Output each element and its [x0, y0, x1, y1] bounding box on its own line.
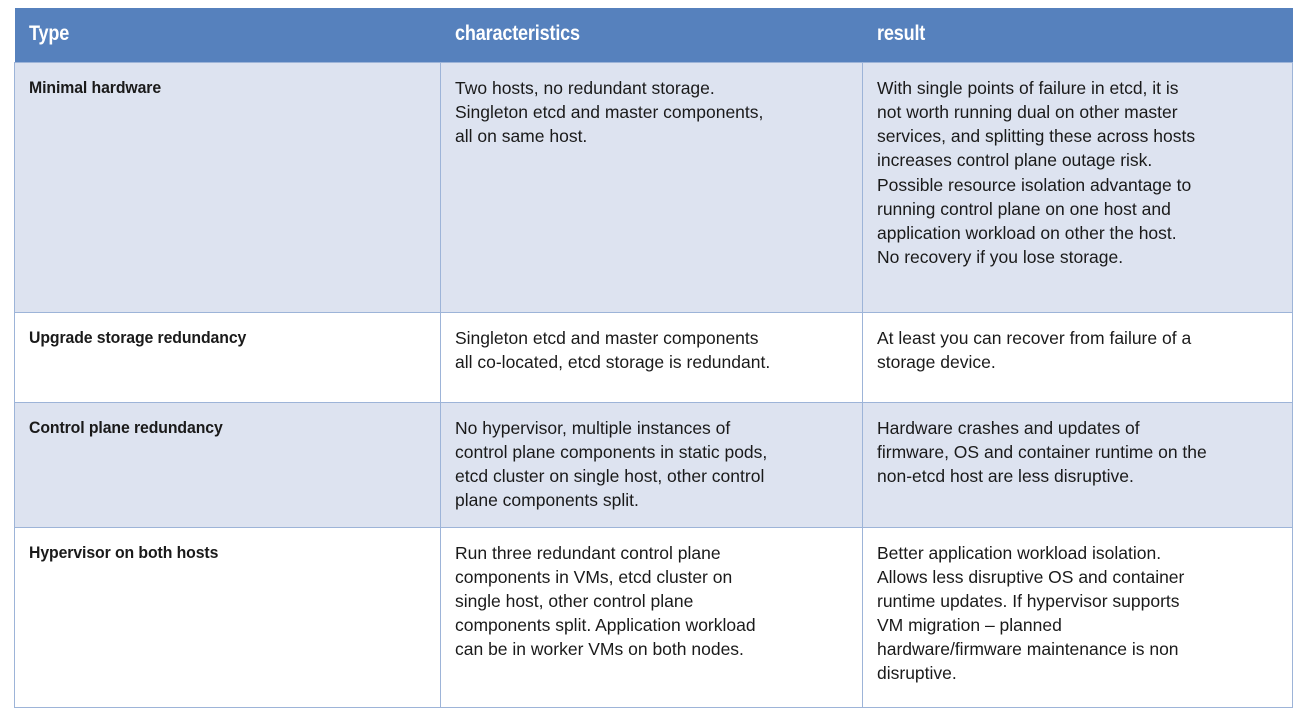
header-row: Type characteristics result: [15, 8, 1293, 63]
cell-characteristics-text: Run three redundant control plane compon…: [455, 541, 848, 662]
cell-characteristics-text: Two hosts, no redundant storage. Singlet…: [455, 76, 848, 148]
cell-result: Better application workload isolation. A…: [863, 527, 1293, 707]
cell-type-text: Hypervisor on both hosts: [29, 541, 218, 564]
cell-characteristics-text: Singleton etcd and master components all…: [455, 326, 848, 374]
cell-type: Upgrade storage redundancy: [15, 313, 441, 403]
column-header-characteristics-label: characteristics: [455, 22, 580, 46]
cell-type: Control plane redundancy: [15, 403, 441, 528]
column-header-result-label: result: [877, 22, 925, 46]
cell-type-text: Minimal hardware: [29, 76, 161, 99]
table-row: Hypervisor on both hosts Run three redun…: [15, 527, 1293, 707]
cell-type: Minimal hardware: [15, 63, 441, 313]
column-header-type-label: Type: [29, 22, 69, 46]
table-header: Type characteristics result: [15, 8, 1293, 63]
cell-result-text: With single points of failure in etcd, i…: [877, 76, 1278, 269]
cell-characteristics: No hypervisor, multiple instances of con…: [441, 403, 863, 528]
cell-result-text: Hardware crashes and updates of firmware…: [877, 416, 1278, 488]
cell-result-text: At least you can recover from failure of…: [877, 326, 1278, 374]
column-header-type: Type: [15, 8, 441, 63]
table-row: Upgrade storage redundancy Singleton etc…: [15, 313, 1293, 403]
deployment-options-table: Type characteristics result Minimal hard…: [14, 8, 1293, 708]
table-row: Minimal hardware Two hosts, no redundant…: [15, 63, 1293, 313]
cell-type: Hypervisor on both hosts: [15, 527, 441, 707]
column-header-characteristics: characteristics: [441, 8, 863, 63]
cell-characteristics: Run three redundant control plane compon…: [441, 527, 863, 707]
comparison-table-container: Type characteristics result Minimal hard…: [14, 8, 1292, 708]
cell-result: Hardware crashes and updates of firmware…: [863, 403, 1293, 528]
cell-characteristics-text: No hypervisor, multiple instances of con…: [455, 416, 848, 513]
cell-type-text: Control plane redundancy: [29, 416, 223, 439]
page-root: Type characteristics result Minimal hard…: [0, 0, 1302, 708]
column-header-result: result: [863, 8, 1293, 63]
cell-result: At least you can recover from failure of…: [863, 313, 1293, 403]
cell-characteristics: Two hosts, no redundant storage. Singlet…: [441, 63, 863, 313]
table-row: Control plane redundancy No hypervisor, …: [15, 403, 1293, 528]
cell-type-text: Upgrade storage redundancy: [29, 326, 246, 349]
cell-characteristics: Singleton etcd and master components all…: [441, 313, 863, 403]
table-body: Minimal hardware Two hosts, no redundant…: [15, 63, 1293, 708]
cell-result-text: Better application workload isolation. A…: [877, 541, 1278, 686]
cell-result: With single points of failure in etcd, i…: [863, 63, 1293, 313]
